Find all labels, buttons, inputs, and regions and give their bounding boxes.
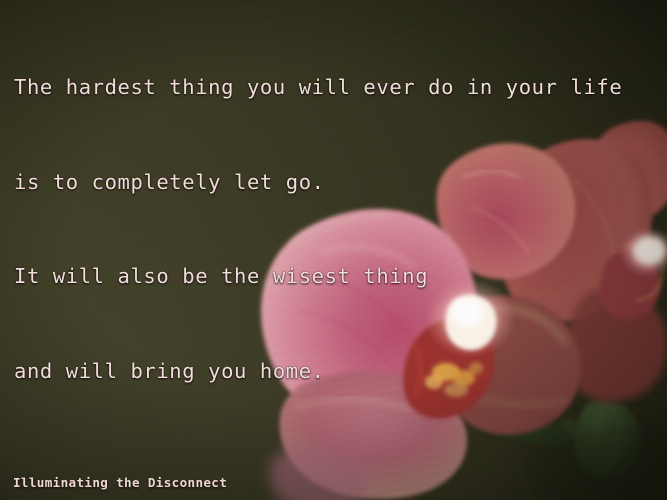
quote-line-2: is to completely let go. [14, 167, 654, 199]
quote-image: The hardest thing you will ever do in yo… [0, 0, 667, 500]
quote-line-1: The hardest thing you will ever do in yo… [14, 72, 654, 104]
quote-line-4: and will bring you home. [14, 356, 654, 388]
quote-line-3: It will also be the wisest thing [14, 261, 654, 293]
quote-text-block: The hardest thing you will ever do in yo… [14, 9, 654, 500]
credit-watermark: Illuminating the Disconnect [13, 475, 227, 490]
